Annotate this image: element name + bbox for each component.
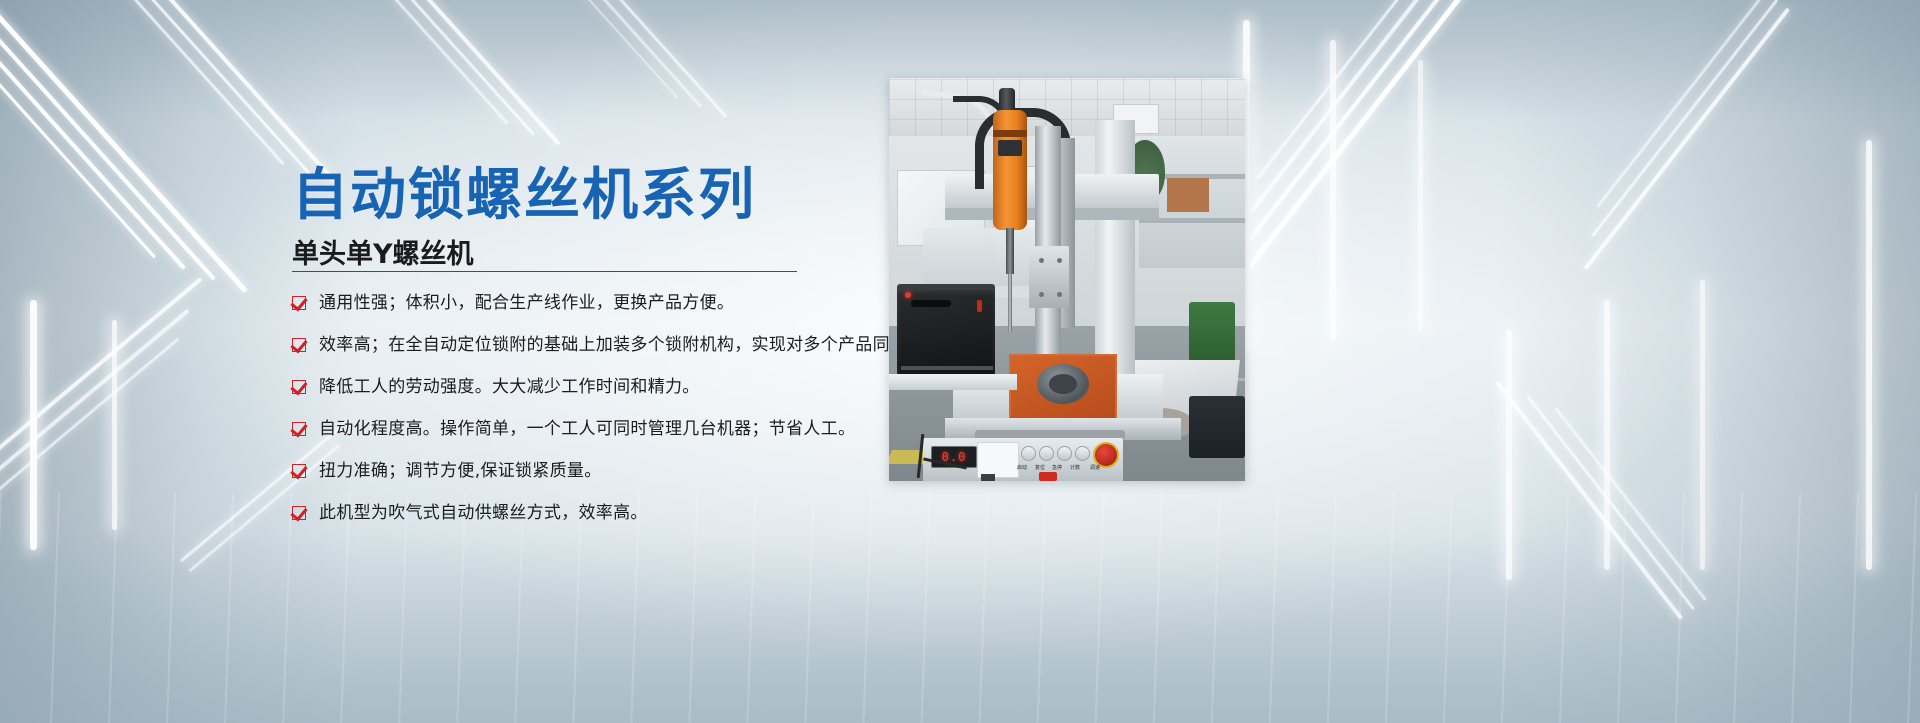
photo-panel-label: 复位 [1035, 464, 1045, 472]
photo-green-bin [1189, 302, 1235, 368]
photo-panel-button-reset [1039, 446, 1054, 461]
photo-driver-shaft [1006, 228, 1014, 274]
photo-driver-label [998, 140, 1022, 156]
photo-bolt [1039, 292, 1044, 297]
photo-foot-pad [981, 474, 995, 481]
photo-panel-button-stop [1057, 446, 1072, 461]
photo-bolt [1057, 258, 1062, 263]
photo-feeder-rail [901, 366, 993, 370]
photo-panel-button-start [1021, 446, 1036, 461]
photo-panel-label: 启动 [1017, 464, 1027, 472]
photo-monitor [1189, 396, 1245, 458]
photo-driver-band [993, 130, 1027, 137]
photo-bolt [1039, 258, 1044, 263]
photo-panel-button-count [1075, 446, 1090, 461]
photo-bolt [1057, 292, 1062, 297]
photo-feeder-indicator [977, 300, 982, 312]
photo-z-axis-block [1029, 246, 1069, 308]
feature-text: 此机型为吹气式自动供螺丝方式，效率高。 [319, 500, 648, 526]
title-divider [292, 271, 797, 272]
photo-red-switch [1039, 472, 1057, 481]
feature-text: 自动化程度高。操作简单，一个工人可同时管理几台机器；节省人工。 [319, 416, 855, 442]
photo-feeder-led [905, 292, 911, 298]
check-icon [292, 506, 306, 520]
feature-list: 通用性强；体积小，配合生产线作业，更换产品方便。 效率高；在全自动定位锁附的基础… [292, 290, 912, 542]
list-item: 此机型为吹气式自动供螺丝方式，效率高。 [292, 500, 912, 528]
list-item: 效率高；在全自动定位锁附的基础上加装多个锁附机构，实现对多个产品同时锁附。 [292, 332, 912, 360]
photo-panel-label: 调速 [1090, 464, 1100, 472]
photo-panel-label: 急停 [1052, 464, 1062, 472]
check-icon [292, 296, 306, 310]
page-title: 自动锁螺丝机系列 [292, 166, 756, 226]
photo-cardboard-box [1167, 178, 1209, 212]
list-item: 自动化程度高。操作简单，一个工人可同时管理几台机器；节省人工。 [292, 416, 912, 444]
photo-panel-label: 计数 [1070, 464, 1080, 472]
product-banner: 自动锁螺丝机系列 单头单Y螺丝机 通用性强；体积小，配合生产线作业，更换产品方便… [0, 0, 1920, 723]
photo-electric-screwdriver [993, 110, 1027, 230]
feature-text: 扭力准确；调节方便,保证锁紧质量。 [319, 458, 602, 484]
photo-panel-plate [977, 442, 1019, 478]
photo-feeder-slot [911, 300, 951, 307]
product-photo: 0.0 启动 复位 急停 计数 调速 [889, 78, 1245, 481]
check-icon [292, 380, 306, 394]
feature-text: 降低工人的劳动强度。大大减少工作时间和精力。 [319, 374, 700, 400]
product-subtitle: 单头单Y螺丝机 [292, 232, 474, 271]
list-item: 扭力准确；调节方便,保证锁紧质量。 [292, 458, 912, 486]
banner-content: 自动锁螺丝机系列 单头单Y螺丝机 通用性强；体积小，配合生产线作业，更换产品方便… [0, 0, 1920, 723]
photo-base-plate [889, 374, 1017, 390]
check-icon [292, 464, 306, 478]
list-item: 通用性强；体积小，配合生产线作业，更换产品方便。 [292, 290, 912, 318]
photo-z-axis-rail [1035, 126, 1061, 356]
photo-screw-bit [1008, 274, 1012, 332]
feature-text: 通用性强；体积小，配合生产线作业，更换产品方便。 [319, 290, 734, 316]
feature-text: 效率高；在全自动定位锁附的基础上加装多个锁附机构，实现对多个产品同时锁附。 [319, 332, 959, 358]
check-icon [292, 422, 306, 436]
photo-workpiece-center [1049, 374, 1077, 394]
list-item: 降低工人的劳动强度。大大减少工作时间和精力。 [292, 374, 912, 402]
check-icon [292, 338, 306, 352]
